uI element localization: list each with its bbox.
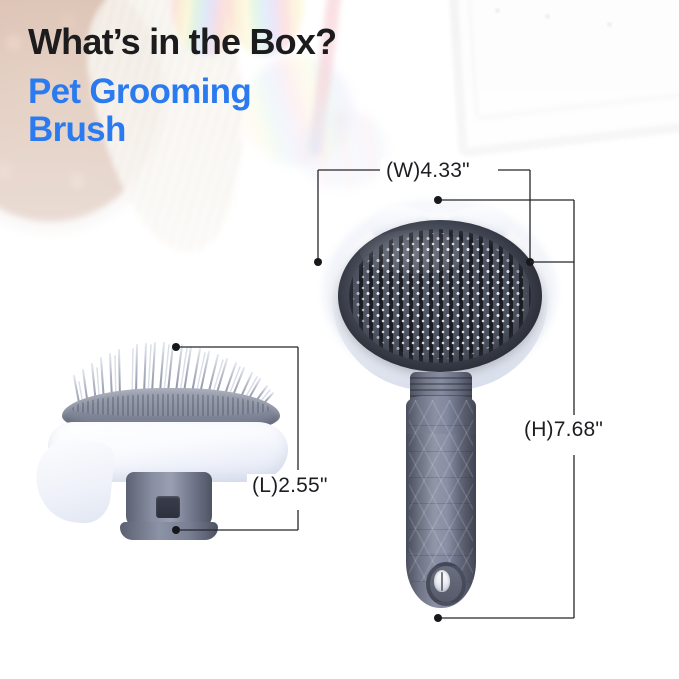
brush-release-button	[156, 496, 180, 518]
page-subtitle: Pet Grooming Brush	[28, 73, 336, 149]
background-tray-rivet	[545, 14, 550, 19]
brush-collar-lip	[120, 522, 218, 540]
dimension-label-length: (L)2.55"	[247, 474, 333, 498]
brush-hang-hole-divider	[441, 572, 443, 591]
background-white-tray	[447, 0, 679, 158]
dimension-label-height: (H)7.68"	[519, 418, 608, 442]
brush-neck-ring	[410, 389, 472, 391]
background-tray-rivet	[495, 8, 500, 13]
page-subtitle-line-2: Brush	[28, 111, 336, 149]
brush-body-tail	[32, 436, 116, 525]
page-title: What’s in the Box?	[28, 24, 336, 60]
brush-head-oval	[338, 220, 542, 372]
page-subtitle-line-1: Pet Grooming	[28, 73, 336, 111]
brush-head-sheen	[360, 230, 470, 274]
brush-neck-ring	[410, 383, 472, 385]
product-image-brush-front-view	[322, 196, 558, 628]
brush-neck-ring	[410, 377, 472, 379]
heading-block: What’s in the Box? Pet Grooming Brush	[28, 24, 336, 149]
background-tray-inner	[466, 0, 679, 121]
infographic-canvas: What’s in the Box? Pet Grooming Brush	[0, 0, 679, 679]
background-faint-blur	[96, 574, 346, 679]
brush-handle-texture	[409, 400, 473, 582]
background-tray-rivet	[607, 22, 612, 27]
dimension-label-width: (W)4.33"	[381, 159, 475, 183]
product-image-brush-side-view	[48, 336, 298, 544]
